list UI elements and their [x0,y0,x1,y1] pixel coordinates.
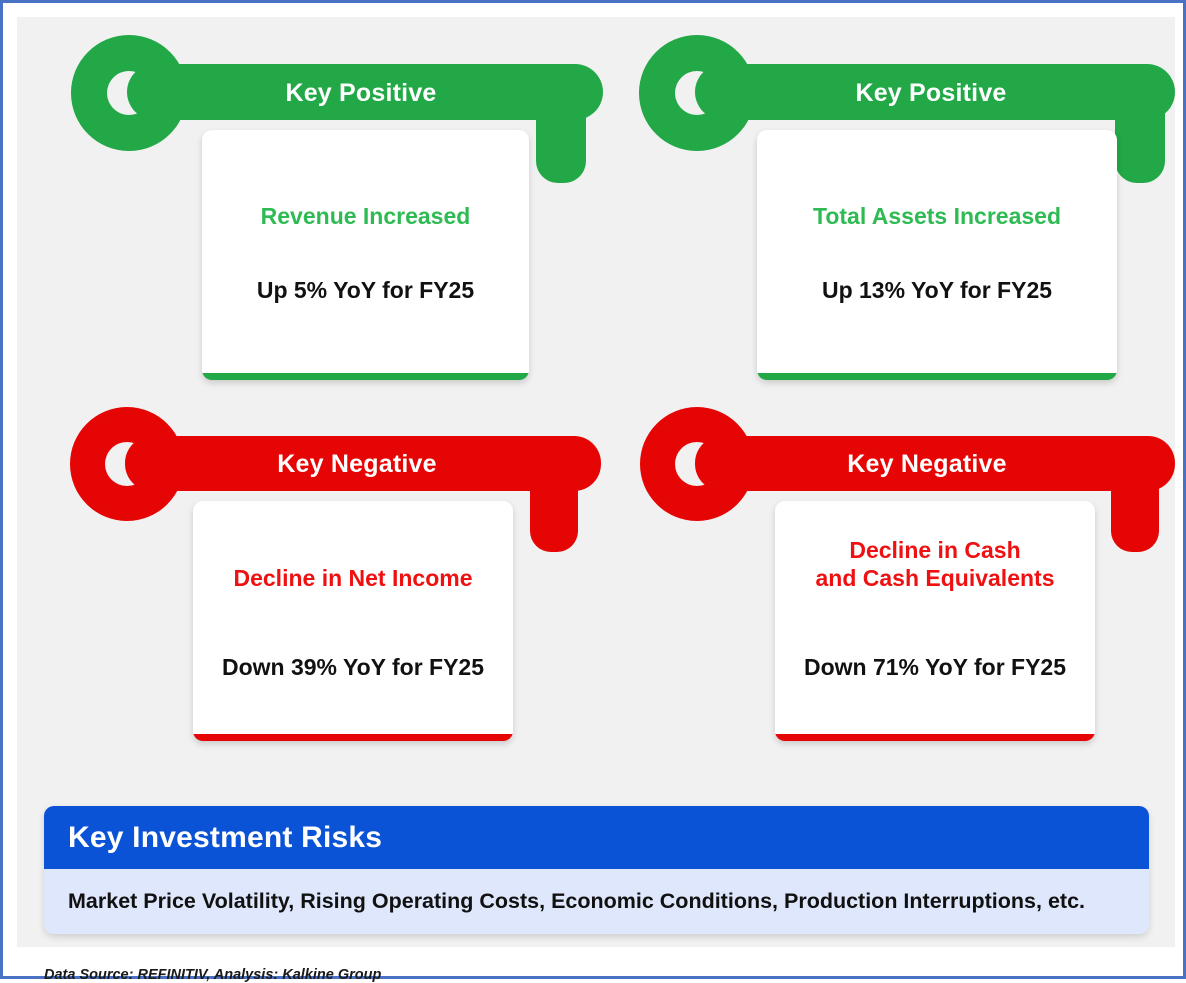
card-body: Decline in Cash and Cash Equivalents Dow… [775,501,1095,741]
data-source-note: Data Source: REFINITIV, Analysis: Kalkin… [44,967,381,983]
card-subtitle: Down 39% YoY for FY25 [222,654,484,681]
card-body: Revenue Increased Up 5% YoY for FY25 [202,130,529,380]
card-subtitle: Down 71% YoY for FY25 [804,654,1066,681]
card-body: Total Assets Increased Up 13% YoY for FY… [757,130,1117,380]
key-badge-label: Key Positive [741,79,1121,108]
key-card-revenue: Key Positive Revenue Increased Up 5% YoY… [39,31,625,381]
key-card-total-assets: Key Positive Total Assets Increased Up 1… [611,31,1175,381]
risks-body-text: Market Price Volatility, Rising Operatin… [68,889,1085,914]
key-badge-label: Key Positive [171,79,551,108]
key-badge-label: Key Negative [167,450,547,479]
card-subtitle: Up 13% YoY for FY25 [822,277,1052,304]
card-body: Decline in Net Income Down 39% YoY for F… [193,501,513,741]
card-title: Decline in Net Income [233,564,472,592]
key-investment-risks-panel: Key Investment Risks Market Price Volati… [44,806,1149,934]
infographic-frame: Key Positive Revenue Increased Up 5% YoY… [0,0,1186,979]
card-accent-bar [775,734,1095,741]
risks-header: Key Investment Risks [44,806,1149,869]
infographic-canvas: Key Positive Revenue Increased Up 5% YoY… [17,17,1175,947]
risks-body: Market Price Volatility, Rising Operatin… [44,869,1149,934]
key-card-net-income: Key Negative Decline in Net Income Down … [39,405,609,750]
key-card-cash: Key Negative Decline in Cash and Cash Eq… [611,405,1175,750]
card-title: Revenue Increased [261,202,471,230]
card-accent-bar [757,373,1117,380]
key-badge-label: Key Negative [737,450,1117,479]
risks-heading: Key Investment Risks [68,821,382,855]
card-title: Total Assets Increased [813,202,1061,230]
card-title: Decline in Cash and Cash Equivalents [815,536,1054,592]
card-subtitle: Up 5% YoY for FY25 [257,277,474,304]
card-accent-bar [193,734,513,741]
card-accent-bar [202,373,529,380]
